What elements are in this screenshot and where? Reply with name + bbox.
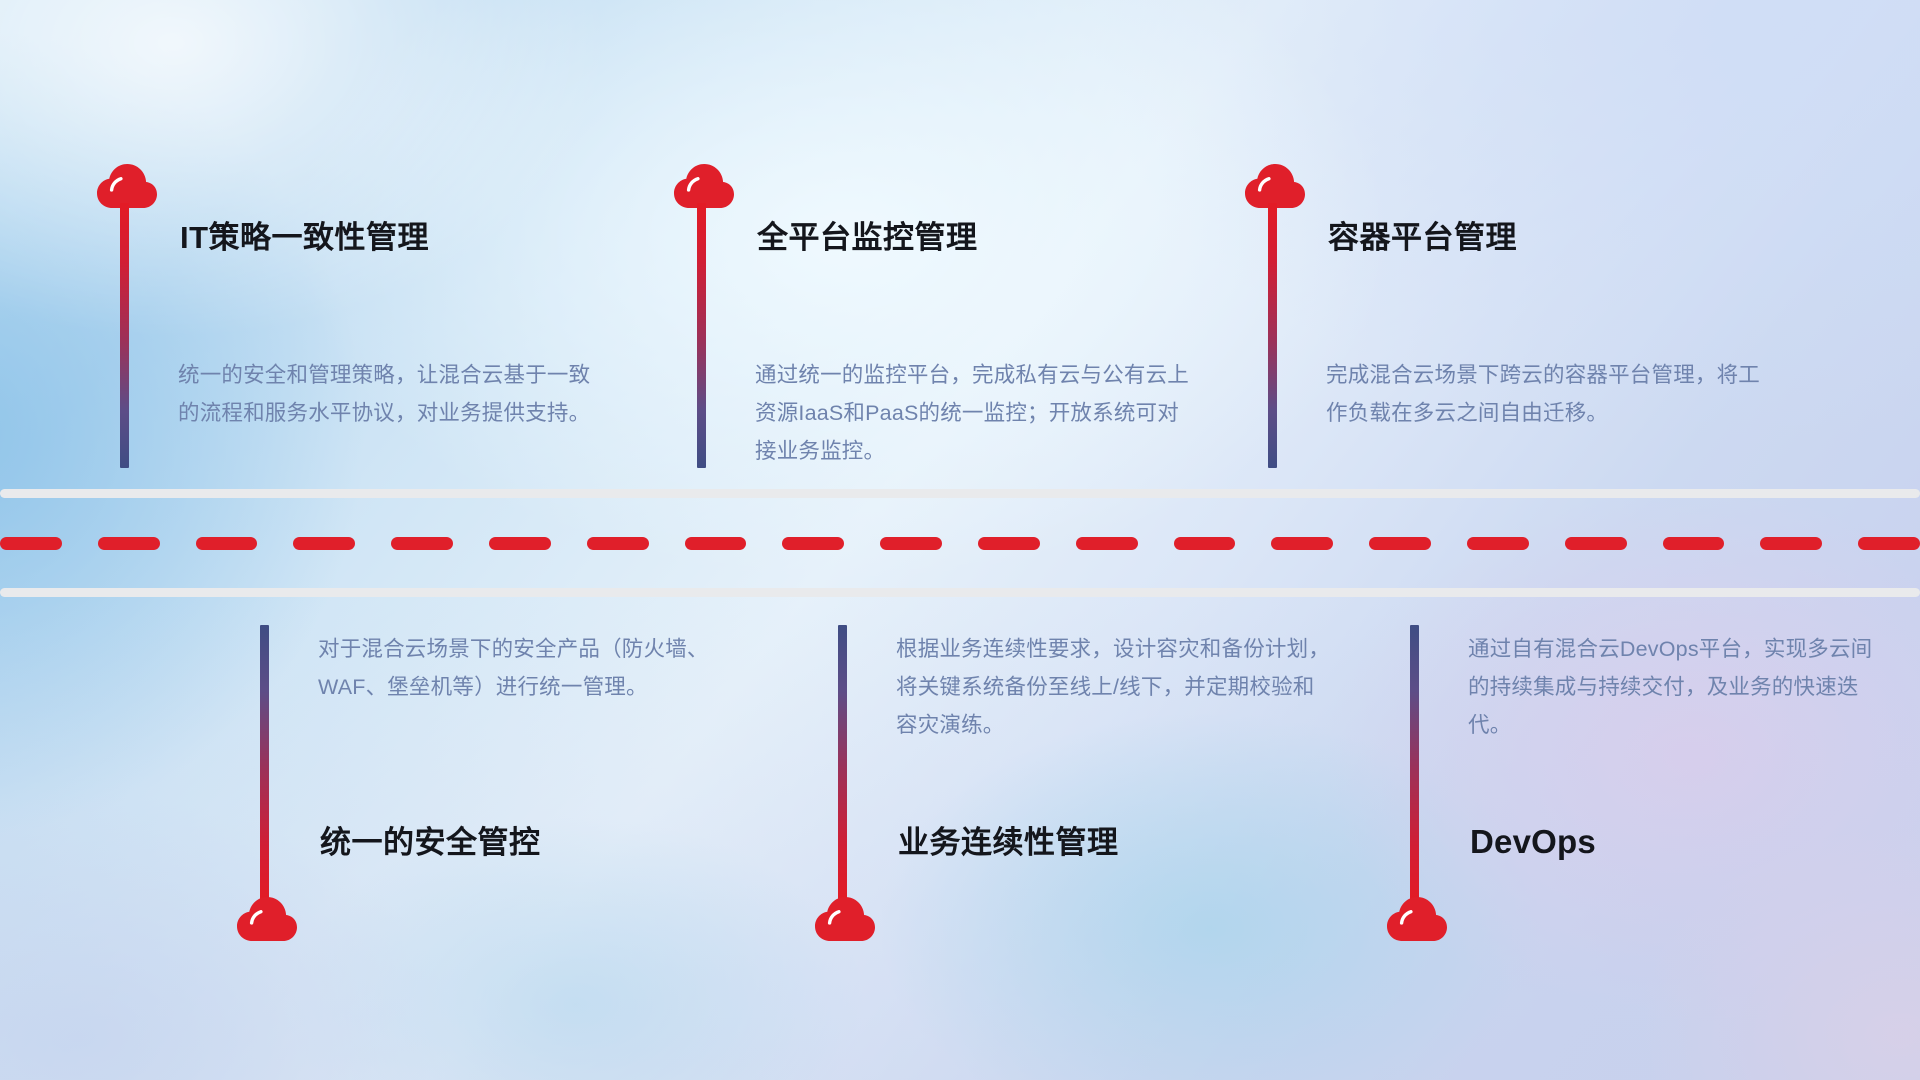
item-body: 对于混合云场景下的安全产品（防火墙、WAF、堡垒机等）进行统一管理。 [318, 630, 750, 706]
divider-dash [0, 537, 62, 550]
cloud-icon [235, 893, 299, 943]
divider-dashed-line [0, 537, 1920, 550]
timeline-pole [838, 625, 847, 902]
divider-dash [978, 537, 1040, 550]
cloud-icon [813, 893, 877, 943]
divider-dash [1565, 537, 1627, 550]
timeline-pole [1268, 203, 1277, 468]
item-heading: 统一的安全管控 [320, 827, 541, 858]
divider-dash [1858, 537, 1920, 550]
divider-dash [1760, 537, 1822, 550]
timeline-pole [697, 203, 706, 468]
divider-dash [1663, 537, 1725, 550]
timeline-pole [260, 625, 269, 902]
divider-dash [489, 537, 551, 550]
item-heading: 全平台监控管理 [757, 222, 978, 253]
item-heading: 业务连续性管理 [898, 827, 1119, 858]
divider-dash [685, 537, 747, 550]
divider-dash [391, 537, 453, 550]
timeline-divider [0, 489, 1920, 597]
divider-rail-top [0, 489, 1920, 498]
item-body: 通过统一的监控平台，完成私有云与公有云上资源IaaS和PaaS的统一监控；开放系… [755, 356, 1195, 470]
divider-dash [1467, 537, 1529, 550]
item-heading: DevOps [1470, 825, 1596, 858]
item-heading: 容器平台管理 [1328, 222, 1517, 253]
timeline-pole [120, 203, 129, 468]
divider-dash [782, 537, 844, 550]
divider-dash [1369, 537, 1431, 550]
item-body: 统一的安全和管理策略，让混合云基于一致的流程和服务水平协议，对业务提供支持。 [178, 356, 610, 432]
divider-dash [880, 537, 942, 550]
divider-dash [587, 537, 649, 550]
divider-dash [1271, 537, 1333, 550]
item-body: 根据业务连续性要求，设计容灾和备份计划，将关键系统备份至线上/线下，并定期校验和… [896, 630, 1336, 744]
item-heading: IT策略一致性管理 [180, 222, 429, 253]
divider-dash [196, 537, 258, 550]
divider-rail-bottom [0, 588, 1920, 597]
divider-dash [98, 537, 160, 550]
cloud-icon [1385, 893, 1449, 943]
divider-dash [293, 537, 355, 550]
divider-dash [1174, 537, 1236, 550]
item-body: 完成混合云场景下跨云的容器平台管理，将工作负载在多云之间自由迁移。 [1326, 356, 1762, 432]
timeline-pole [1410, 625, 1419, 902]
divider-dash [1076, 537, 1138, 550]
item-body: 通过自有混合云DevOps平台，实现多云间的持续集成与持续交付，及业务的快速迭代… [1468, 630, 1888, 744]
